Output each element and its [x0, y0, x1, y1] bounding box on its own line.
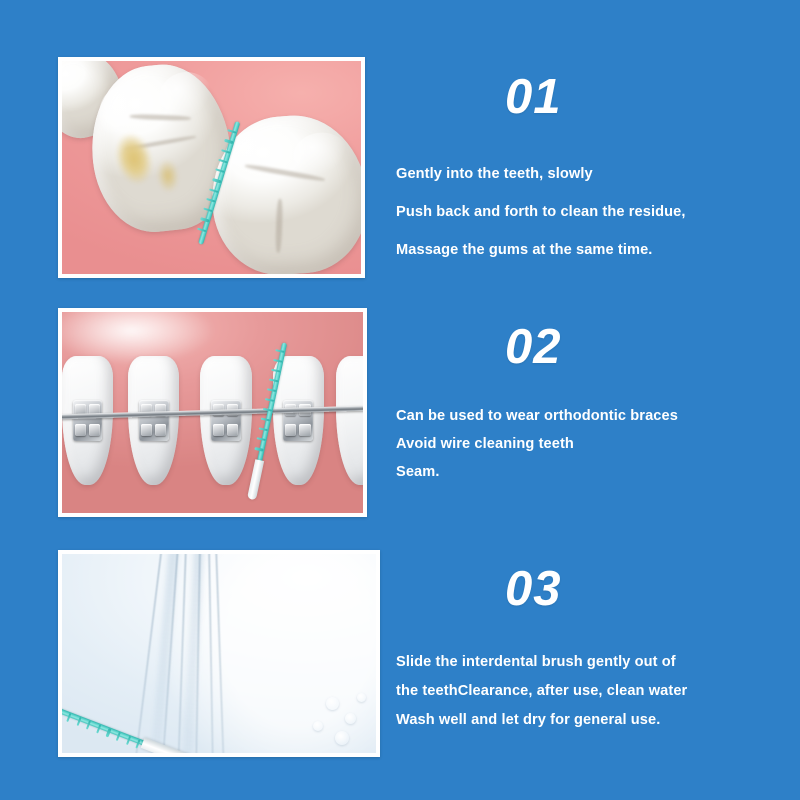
plaque-stain [153, 156, 181, 195]
step-1-image-frame [58, 57, 365, 278]
step-number-02: 02 [505, 323, 562, 372]
step-1-line-1: Gently into the teeth, slowly [396, 155, 686, 193]
braces-tooth [200, 356, 251, 485]
step-1-line-2: Push back and forth to clean the residue… [396, 193, 686, 231]
step-3-description: Slide the interdental brush gently out o… [396, 648, 687, 735]
orthodontic-braces-brush-photo [62, 312, 363, 513]
orthodontic-bracket [73, 400, 103, 441]
step-3-line-2: the teethClearance, after use, clean wat… [396, 677, 687, 706]
water-droplet [326, 697, 339, 710]
orthodontic-bracket [211, 400, 241, 441]
step-1-line-3: Massage the gums at the same time. [396, 231, 686, 269]
step-number-01: 01 [505, 73, 562, 122]
rinsing-brush-under-water-photo [62, 554, 376, 753]
tooth-fissure [275, 199, 283, 253]
step-2-description: Can be used to wear orthodontic braces A… [396, 402, 678, 486]
step-3-line-1: Slide the interdental brush gently out o… [396, 648, 687, 677]
step-3-line-3: Wash well and let dry for general use. [396, 706, 687, 735]
step-2-line-2: Avoid wire cleaning teeth [396, 430, 678, 458]
step-2-line-3: Seam. [396, 458, 678, 486]
step-3-image-frame [58, 550, 380, 757]
step-number-03: 03 [505, 565, 562, 614]
step-2-image-frame [58, 308, 367, 517]
plaque-stain [106, 130, 161, 196]
water-droplet [345, 713, 356, 724]
orthodontic-bracket [139, 400, 169, 441]
orthodontic-bracket [283, 400, 313, 441]
molar-teeth-interdental-brush-photo [62, 61, 361, 274]
step-1-description: Gently into the teeth, slowly Push back … [396, 155, 686, 269]
step-2-line-1: Can be used to wear orthodontic braces [396, 402, 678, 430]
